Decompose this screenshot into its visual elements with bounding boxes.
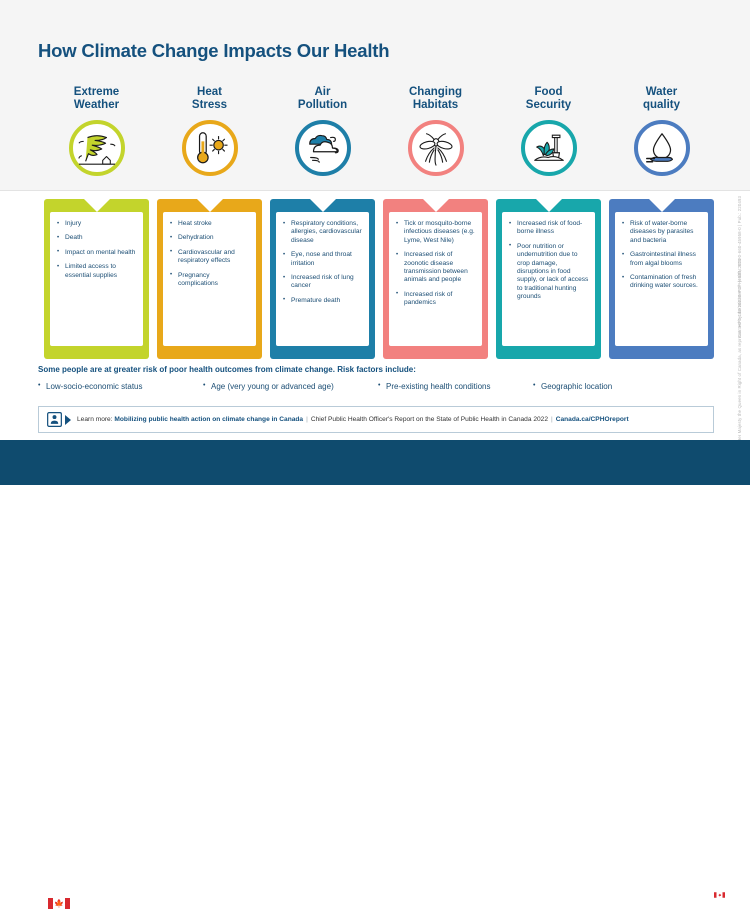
separator: | bbox=[548, 416, 556, 423]
column-card: Injury Death Impact on mental health Lim… bbox=[50, 212, 143, 346]
list-item: Pregnancy complications bbox=[169, 272, 250, 289]
column-title: Water quality bbox=[643, 86, 680, 114]
tornado-icon bbox=[69, 120, 125, 176]
risk-factors-list: Low-socio-economic status Age (very youn… bbox=[38, 382, 714, 391]
column-card: Respiratory conditions, allergies, cardi… bbox=[276, 212, 369, 346]
footer-agency-french: Agence de la santé publique du Canada bbox=[140, 896, 197, 911]
list-item: Limited access to essential supplies bbox=[56, 263, 137, 280]
risk-factors-heading: Some people are at greater risk of poor … bbox=[38, 365, 714, 374]
arrow-icon bbox=[65, 415, 71, 425]
page-title: How Climate Change Impacts Our Health bbox=[38, 40, 389, 62]
column-card: Risk of water-borne diseases by parasite… bbox=[615, 212, 708, 346]
list-item: Cardiovascular and respiratory effects bbox=[169, 249, 250, 266]
list-item: Gastrointestinal illness from algal bloo… bbox=[621, 251, 702, 268]
panel-notch bbox=[649, 199, 675, 212]
risk-factors-section: Some people are at greater risk of poor … bbox=[38, 365, 714, 391]
list-item: Increased risk of lung cancer bbox=[282, 274, 363, 291]
list-item: Respiratory conditions, allergies, cardi… bbox=[282, 220, 363, 245]
list-item: Tick or mosquito-borne infectious diseas… bbox=[395, 220, 476, 245]
column-air-pollution: Air Pollution Respiratory condit bbox=[266, 86, 379, 361]
mosquito-icon bbox=[408, 120, 464, 176]
risk-factor-item: Geographic location bbox=[533, 382, 683, 391]
impact-columns: Extreme Weather Injury Death Impact on m… bbox=[40, 86, 718, 361]
list-item: Increased risk of zoonotic disease trans… bbox=[395, 251, 476, 285]
column-card: Increased risk of food-borne illness Poo… bbox=[502, 212, 595, 346]
list-item: Premature death bbox=[282, 297, 363, 305]
column-title: Changing Habitats bbox=[409, 86, 462, 114]
risk-factor-item: Age (very young or advanced age) bbox=[203, 382, 378, 391]
footer-bar: 🍁 Public Health Agency of Canada Agence … bbox=[0, 440, 750, 485]
risk-factor-item: Pre-existing health conditions bbox=[378, 382, 533, 391]
column-heat-stress: Heat Stress bbox=[153, 86, 266, 361]
panel-notch bbox=[84, 199, 110, 212]
list-item: Risk of water-borne diseases by parasite… bbox=[621, 220, 702, 245]
column-food-security: Food Security Increased risk of food-bor… bbox=[492, 86, 605, 361]
smog-cloud-icon bbox=[295, 120, 351, 176]
report-subtitle: Chief Public Health Officer's Report on … bbox=[311, 416, 548, 423]
column-card: Tick or mosquito-borne infectious diseas… bbox=[389, 212, 482, 346]
panel-notch bbox=[310, 199, 336, 212]
plant-shovel-icon bbox=[521, 120, 577, 176]
panel-notch bbox=[197, 199, 223, 212]
water-drop-tap-icon bbox=[634, 120, 690, 176]
column-extreme-weather: Extreme Weather Injury Death Impact on m… bbox=[40, 86, 153, 361]
panel-notch bbox=[423, 199, 449, 212]
list-item: Increased risk of pandemics bbox=[395, 291, 476, 308]
learn-more-text: Learn more: Mobilizing public health act… bbox=[77, 415, 629, 425]
thermometer-sun-icon bbox=[182, 120, 238, 176]
footer-agency-english: Public Health Agency of Canada bbox=[80, 896, 133, 911]
report-title-link[interactable]: Mobilizing public health action on clima… bbox=[114, 416, 303, 423]
column-title: Air Pollution bbox=[298, 86, 347, 114]
column-changing-habitats: Changing Habitats bbox=[379, 86, 492, 361]
list-item: Eye, nose and throat irritation bbox=[282, 251, 363, 268]
list-item: Contamination of fresh drinking water so… bbox=[621, 274, 702, 291]
infographic-page: How Climate Change Impacts Our Health Ex… bbox=[0, 0, 750, 485]
canada-flag-icon: 🍁 bbox=[48, 898, 70, 909]
document-arrow-icon bbox=[39, 407, 65, 432]
separator: | bbox=[303, 416, 311, 423]
list-item: Poor nutrition or undernutrition due to … bbox=[508, 243, 589, 302]
column-title: Food Security bbox=[526, 86, 571, 114]
list-item: Impact on mental health bbox=[56, 249, 137, 257]
wordmark-flag-icon bbox=[714, 892, 725, 898]
column-title: Heat Stress bbox=[192, 86, 227, 114]
learn-more-prefix: Learn more: bbox=[77, 416, 113, 423]
risk-factor-item: Low-socio-economic status bbox=[38, 382, 203, 391]
report-url-link[interactable]: Canada.ca/CPHOreport bbox=[556, 416, 629, 423]
list-item: Dehydration bbox=[169, 234, 250, 242]
column-card: Heat stroke Dehydration Cardiovascular a… bbox=[163, 212, 256, 346]
column-water-quality: Water quality Risk of water-borne diseas… bbox=[605, 86, 718, 361]
learn-more-bar[interactable]: Learn more: Mobilizing public health act… bbox=[38, 406, 714, 433]
list-item: Increased risk of food-borne illness bbox=[508, 220, 589, 237]
list-item: Death bbox=[56, 234, 137, 242]
panel-notch bbox=[536, 199, 562, 212]
copyright-notice: © Her Majesty the Queen in Right of Cana… bbox=[737, 258, 742, 448]
column-title: Extreme Weather bbox=[74, 86, 119, 114]
list-item: Heat stroke bbox=[169, 220, 250, 228]
list-item: Injury bbox=[56, 220, 137, 228]
